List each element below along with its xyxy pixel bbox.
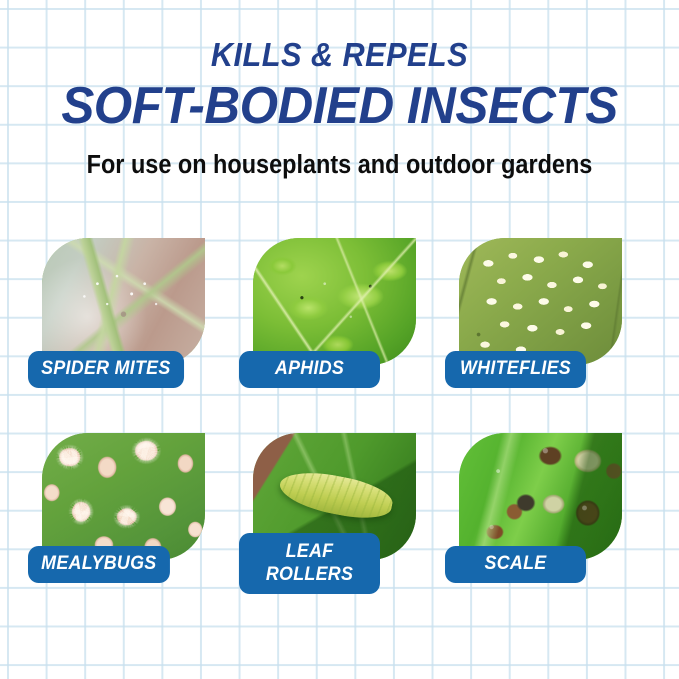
pest-card-mealybugs: MEALYBUGS xyxy=(42,433,205,560)
pest-label-whiteflies: WHITEFLIES xyxy=(445,351,586,388)
headline-text: SOFT-BODIED INSECTS xyxy=(17,76,662,136)
pest-photo-whiteflies xyxy=(459,238,622,365)
pest-label-mealybugs: MEALYBUGS xyxy=(28,546,170,583)
spider-mites-photo-art xyxy=(42,238,205,365)
pest-card-scale: SCALE xyxy=(459,433,622,560)
aphids-photo-art xyxy=(253,238,416,365)
pest-label-scale: SCALE xyxy=(445,546,586,583)
whiteflies-photo-art xyxy=(459,238,622,365)
pest-card-aphids: APHIDS xyxy=(253,238,416,365)
pest-card-spider-mites: SPIDER MITES xyxy=(42,238,205,365)
pest-photo-aphids xyxy=(253,238,416,365)
pest-photo-scale xyxy=(459,433,622,560)
scale-photo-art xyxy=(459,433,622,560)
pest-row-bottom: MEALYBUGS LEAF ROLLERS SCALE xyxy=(0,433,679,628)
poster-header: KILLS & REPELS SOFT-BODIED INSECTS For u… xyxy=(0,0,679,180)
mealybugs-photo-art xyxy=(42,433,205,560)
pest-photo-spider-mites xyxy=(42,238,205,365)
pest-card-whiteflies: WHITEFLIES xyxy=(459,238,622,365)
pest-label-spider-mites: SPIDER MITES xyxy=(28,351,184,388)
pest-card-leaf-rollers: LEAF ROLLERS xyxy=(253,433,416,560)
pest-row-top: SPIDER MITES APHIDS WHITEFLIES xyxy=(0,238,679,433)
pest-card-grid: SPIDER MITES APHIDS WHITEFLIES M xyxy=(0,238,679,628)
pest-label-leaf-rollers: LEAF ROLLERS xyxy=(239,533,380,594)
kicker-text: KILLS & REPELS xyxy=(24,36,655,74)
pest-photo-mealybugs xyxy=(42,433,205,560)
pest-infographic-poster: KILLS & REPELS SOFT-BODIED INSECTS For u… xyxy=(0,0,679,679)
subtitle-text: For use on houseplants and outdoor garde… xyxy=(27,150,652,180)
pest-label-aphids: APHIDS xyxy=(239,351,380,388)
